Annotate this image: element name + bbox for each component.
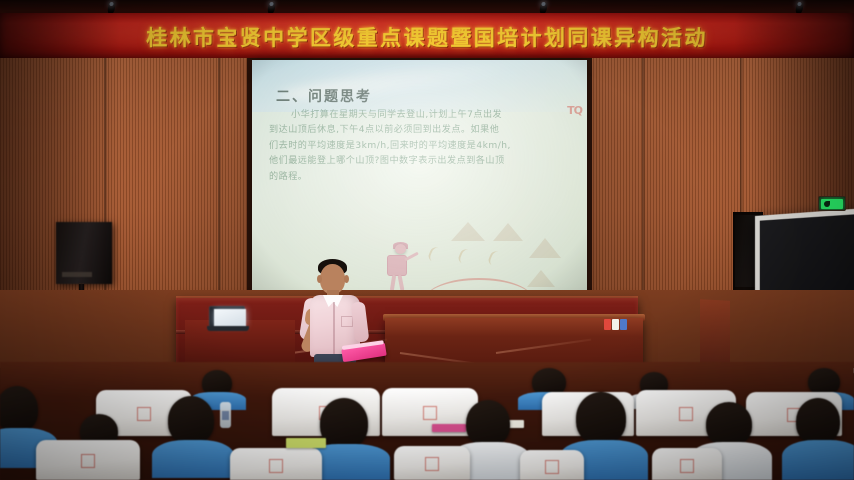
water-bottle xyxy=(220,402,231,428)
book-on-seat xyxy=(432,424,466,432)
mountain-icon xyxy=(529,238,561,258)
mountain-icon xyxy=(493,223,523,241)
laptop-keyboard-base xyxy=(207,326,249,331)
event-banner: 桂林市宝贤中学区级重点课题暨国培计划同课异构活动 xyxy=(0,13,854,60)
audience-area xyxy=(0,362,854,480)
hiker-arm xyxy=(404,252,419,262)
slide-body-text: 小华打算在星期天与同学去登山,计划上午7点出发 到达山顶后休息,下午4点以前必须… xyxy=(269,108,573,185)
book-on-seat xyxy=(286,438,326,448)
mountain-icon xyxy=(527,270,555,287)
path-dash xyxy=(427,245,448,265)
exit-running-man-icon xyxy=(821,199,843,209)
student-head xyxy=(466,400,510,446)
student-head xyxy=(706,402,752,446)
exit-sign xyxy=(818,196,846,211)
banner-title-text: 桂林市宝贤中学区级重点课题暨国培计划同课异构活动 xyxy=(0,22,854,52)
laptop-screen xyxy=(214,309,246,326)
student-head xyxy=(320,398,368,448)
laptop-lid xyxy=(209,306,245,327)
seat-back-cover xyxy=(230,448,322,480)
seat-back-cover xyxy=(36,440,140,480)
laptop xyxy=(207,306,249,332)
slide-line-1: 小华打算在星期天与同学去登山,计划上午7点出发 xyxy=(291,110,502,120)
path-dash xyxy=(457,247,478,267)
hiker-head xyxy=(395,244,406,254)
student-head xyxy=(168,396,214,444)
cup xyxy=(604,319,611,330)
student-shoulders xyxy=(152,440,234,478)
teacher-ear xyxy=(317,275,322,283)
teacher-shirt-pocket xyxy=(341,316,353,327)
student-head xyxy=(0,386,38,432)
cup xyxy=(612,319,619,330)
slide-title: 二、问题思考 xyxy=(276,86,372,106)
slide-illustration xyxy=(377,220,577,298)
seat-back-cover xyxy=(652,448,722,480)
classroom-scene: 桂林市宝贤中学区级重点课题暨国培计划同课异构活动 二、问题思考 小华打算在星期天… xyxy=(0,0,854,480)
teacher-shirt-placket xyxy=(333,302,335,354)
student-head xyxy=(796,398,840,444)
hiker-leg xyxy=(390,275,396,291)
cups-on-desk xyxy=(604,318,630,330)
slide-line-4: 他们最远能登上哪个山顶?图中数字表示出发点到各山顶 xyxy=(269,156,505,166)
student-shoulders xyxy=(782,440,854,480)
student-head xyxy=(808,368,840,395)
slide-watermark: TQ xyxy=(567,104,582,117)
cup xyxy=(620,319,627,330)
speaker-grille xyxy=(62,272,92,277)
slide-line-5: 的路程。 xyxy=(269,172,307,182)
teacher-ear xyxy=(344,275,349,283)
slide-line-3: 们去时的平均速度是3km/h,回来时的平均速度是4km/h, xyxy=(269,141,511,151)
hiker-leg xyxy=(398,275,405,291)
path-dash xyxy=(487,249,508,269)
seat-back-cover xyxy=(520,450,584,480)
student-head xyxy=(576,392,626,444)
mountain-icon xyxy=(451,222,485,241)
slide-line-2: 到达山顶后休息,下午4点以前必须回到出发点。如果他 xyxy=(269,125,499,135)
loudspeaker-left xyxy=(56,222,112,284)
seat-back-cover xyxy=(394,446,470,480)
hiker-figure-icon xyxy=(385,244,419,292)
